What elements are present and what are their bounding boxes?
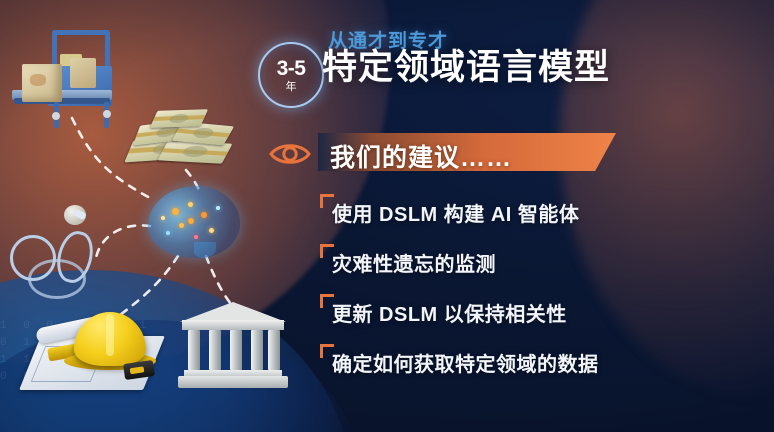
money-stacks-image — [128, 108, 232, 170]
classical-temple-image — [178, 300, 288, 388]
list-item: 确定如何获取特定领域的数据 — [320, 342, 740, 392]
list-item-label: 确定如何获取特定领域的数据 — [332, 348, 599, 377]
duration-badge: 3-5 年 — [258, 42, 324, 108]
stethoscope-image — [8, 205, 112, 301]
list-item-label: 使用 DSLM 构建 AI 智能体 — [332, 198, 579, 227]
recommendation-banner-label: 我们的建议…… — [330, 138, 512, 174]
hard-hat-blueprint-image — [30, 300, 160, 394]
badge-number: 3-5 — [277, 58, 306, 79]
packaging-machine-image — [8, 28, 120, 120]
list-item: 灾难性遗忘的监测 — [320, 242, 740, 292]
list-item-label: 灾难性遗忘的监测 — [332, 248, 496, 277]
page-title: 特定领域语言模型 — [322, 48, 610, 88]
list-item: 更新 DSLM 以保持相关性 — [320, 292, 740, 342]
eye-icon — [268, 140, 312, 168]
brain-network-image — [148, 186, 240, 258]
badge-unit: 年 — [286, 82, 297, 93]
list-item: 使用 DSLM 构建 AI 智能体 — [320, 192, 740, 242]
slide-root: 1 0 0 1 1 0 1 0 1 1 0 0 1 0 1 1 0 1 0 0 … — [0, 0, 774, 432]
recommendation-list: 使用 DSLM 构建 AI 智能体 灾难性遗忘的监测 更新 DSLM 以保持相关… — [320, 192, 740, 392]
list-item-label: 更新 DSLM 以保持相关性 — [332, 298, 567, 327]
